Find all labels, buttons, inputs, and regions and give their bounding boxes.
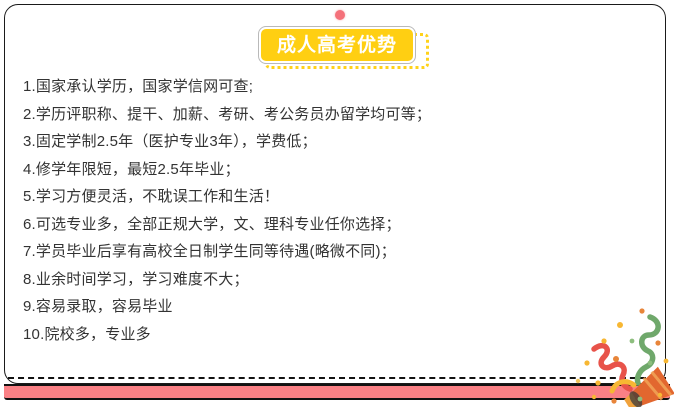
list-item: 9.容易录取，容易毕业 (23, 293, 643, 321)
advantages-card: 成人高考优势 1.国家承认学历，国家学信网可查; 2.学历评职称、提干、加薪、考… (4, 4, 666, 384)
footer-dashed-divider (8, 377, 666, 379)
footer-solid-divider (4, 384, 670, 386)
footer-pink-bar (4, 386, 670, 400)
list-item: 7.学员毕业后享有高校全日制学生同等待遇(略微不同)； (23, 238, 643, 266)
title-badge: 成人高考优势 (259, 27, 431, 69)
list-item: 2.学历评职称、提干、加薪、考研、考公务员办留学均可等； (23, 101, 643, 129)
list-item: 10.院校多，专业多 (23, 321, 643, 349)
list-item: 3.固定学制2.5年（医护专业3年），学费低； (23, 128, 643, 156)
list-item: 1.国家承认学历，国家学信网可查; (23, 73, 643, 101)
list-item: 8.业余时间学习，学习难度不大； (23, 266, 643, 294)
advantages-list: 1.国家承认学历，国家学信网可查; 2.学历评职称、提干、加薪、考研、考公务员办… (23, 73, 643, 348)
title-badge-body: 成人高考优势 (259, 27, 415, 63)
decorative-dot-icon (335, 10, 345, 20)
list-item: 4.修学年限短，最短2.5年毕业； (23, 156, 643, 184)
list-item: 5.学习方便灵活，不耽误工作和生活！ (23, 183, 643, 211)
list-item: 6.可选专业多，全部正规大学，文、理科专业任你选择； (23, 211, 643, 239)
page-title: 成人高考优势 (277, 36, 397, 55)
